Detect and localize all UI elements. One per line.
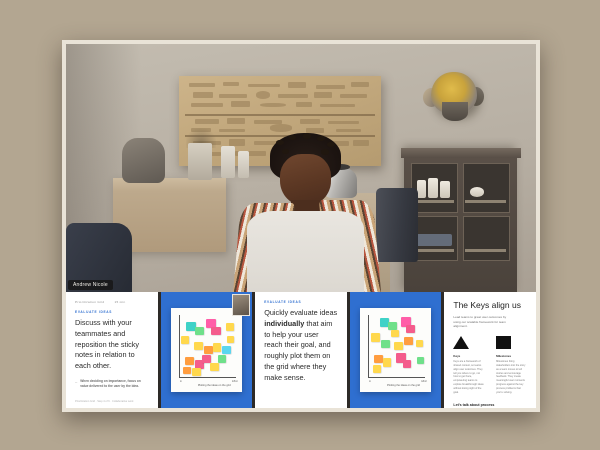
- participant-face: [280, 154, 331, 206]
- keys-col2-text: Milestones bring stakeholders into the s…: [496, 360, 527, 395]
- slide1-body: Discuss with your teammates and repositi…: [75, 318, 149, 372]
- bottle-a: [221, 146, 235, 178]
- slide1-meta-left: Prioritization Grid: [75, 300, 104, 304]
- triangle-icon: [453, 336, 469, 349]
- board1-axis-x-end: Effort: [232, 380, 238, 383]
- video-feed[interactable]: Andrew Nicole: [66, 44, 536, 292]
- reed-diffuser-bottle: [188, 143, 212, 180]
- slide1-bullet-dash: –: [75, 379, 77, 389]
- keys-title: The Keys align us: [453, 300, 527, 310]
- keys-section-heading: Let's talk about process: [453, 403, 527, 407]
- slide3-eyebrow: EVALUATE IDEAS: [264, 300, 338, 304]
- board1-caption: Plotting the ideas on the grid: [198, 384, 231, 387]
- screen-frame: Andrew Nicole Prioritization Grid 15 min…: [62, 40, 540, 412]
- board2-axis-x-end: Effort: [421, 380, 427, 383]
- slide-strip: Prioritization Grid 15 min EVALUATE IDEA…: [66, 292, 536, 408]
- slide1-footer: Prioritization Grid · Step 4 of 6 · Coll…: [75, 400, 133, 403]
- participant-name-label: Andrew Nicole: [68, 280, 113, 290]
- keys-col1-text: Keys are a framework of shared context, …: [453, 360, 484, 395]
- slide-grid-photo-1[interactable]: lo Effort Plotting the ideas on the grid: [161, 292, 253, 408]
- slide-evaluate-reposition[interactable]: Prioritization Grid 15 min EVALUATE IDEA…: [66, 292, 158, 408]
- slide-keys-align[interactable]: The Keys align us Lead teams to great us…: [444, 292, 536, 408]
- keys-col1-heading: Keys: [453, 354, 484, 358]
- participant-shirt: [247, 211, 364, 292]
- presenter-thumbnail-1: [232, 294, 250, 316]
- slide1-eyebrow: EVALUATE IDEAS: [75, 310, 149, 314]
- board2-caption: Plotting the ideas on the grid: [387, 384, 420, 387]
- board1-axis-origin: lo: [180, 380, 182, 383]
- meeting-participant: [245, 133, 367, 292]
- keys-column-keys: Keys Keys are a framework of shared cont…: [453, 336, 484, 395]
- keys-subtitle: Lead teams to great user outcomes by usi…: [453, 315, 513, 329]
- board2-axis-origin: lo: [369, 380, 371, 383]
- slide-grid-photo-2[interactable]: lo Effort Plotting the ideas on the grid: [350, 292, 442, 408]
- screen-surface: Andrew Nicole Prioritization Grid 15 min…: [66, 44, 536, 408]
- slide1-meta-right: 15 min: [114, 300, 125, 304]
- slide3-body: Quickly evaluate ideas individually that…: [264, 308, 338, 384]
- slide3-body-strong: individually: [264, 319, 304, 328]
- screenshot-root: Andrew Nicole Prioritization Grid 15 min…: [0, 0, 600, 450]
- stone-head-sculpture: [122, 138, 164, 183]
- prioritization-board-2: lo Effort Plotting the ideas on the grid: [360, 308, 431, 392]
- square-icon: [496, 336, 511, 349]
- slide3-body-rest: that aim to help your user reach their g…: [264, 319, 332, 382]
- keys-col2-heading: Milestones: [496, 354, 527, 358]
- waste-bin: [376, 188, 418, 262]
- slide3-body-lead: Quickly evaluate ideas: [264, 308, 337, 317]
- slide-evaluate-individually[interactable]: EVALUATE IDEAS Quickly evaluate ideas in…: [255, 292, 347, 408]
- mounted-mask-sculpture: [423, 66, 484, 121]
- keys-column-milestones: Milestones Milestones bring stakeholders…: [496, 336, 527, 395]
- slide1-bullet-text: When deciding on importance, focus on va…: [80, 379, 148, 389]
- prioritization-board-1: lo Effort Plotting the ideas on the grid: [171, 308, 242, 392]
- glass-display-cabinet: [404, 148, 517, 292]
